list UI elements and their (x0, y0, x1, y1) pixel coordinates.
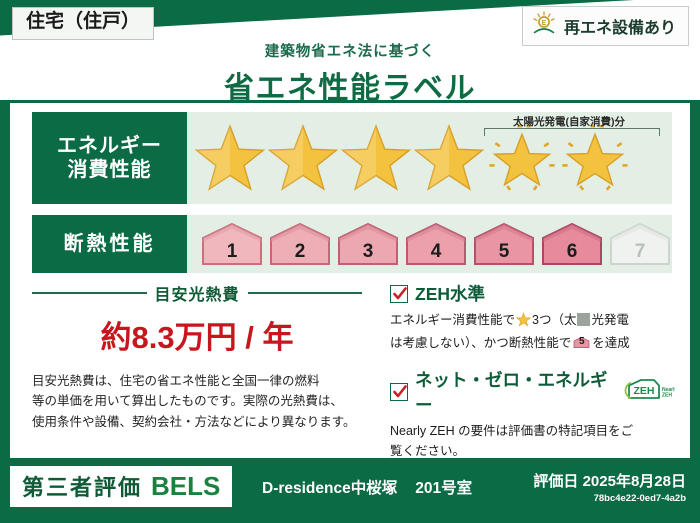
evaluation-id: 78bc4e22-0ed7-4a2b (533, 493, 686, 504)
zeh-section: ZEH水準 エネルギー消費性能で3つ（太光発電 は考慮しない）、かつ断熱性能で5… (390, 281, 675, 461)
insulation-badge-number: 1 (199, 241, 265, 263)
insulation-badge: 6 (539, 221, 605, 267)
insulation-badge-number: 7 (607, 241, 673, 263)
label-title-group: 建築物省エネ法に基づく 省エネ性能ラベル (0, 40, 700, 107)
footer-band: 第三者評価 BELS D-residence中桜塚201号室 評価日 2025年… (0, 462, 700, 523)
solar-sun-icon: E (531, 11, 557, 40)
utility-cost-section: 目安光熱費 約8.3万円 / 年 目安光熱費は、住宅の省エネ性能と全国一律の燃料… (32, 281, 362, 432)
insulation-badges-area: 1 2 3 (187, 215, 673, 273)
insulation-badge: 1 (199, 221, 265, 267)
insulation-badge: 3 (335, 221, 401, 267)
evaluation-date-group: 評価日 2025年8月28日 78bc4e22-0ed7-4a2b (533, 470, 686, 504)
mini-badge-number: 5 (573, 334, 590, 350)
zeh-body-after-star: 3つ（太 (532, 313, 576, 327)
insulation-badge: 4 (403, 221, 469, 267)
cost-note-line-2: 等の単価を用いて算出したものです。実際の光熱費は、 (32, 391, 362, 411)
evaluation-date-value: 2025年8月28日 (583, 473, 686, 490)
title-subtitle: 建築物省エネ法に基づく (0, 40, 700, 61)
zeh-body-line2-post: を達成 (592, 336, 630, 350)
insulation-badge: 5 (471, 221, 537, 267)
mini-insulation-badge: 5 (573, 335, 590, 350)
insulation-badge-number: 5 (471, 241, 537, 263)
cost-note-line-3: 使用条件や設備、契約会社・方法などにより異なります。 (32, 412, 362, 432)
title-main: 省エネ性能ラベル (0, 63, 700, 107)
netzero-body: Nearly ZEH の要件は評価書の特記項目をご 覧ください。 (390, 421, 675, 461)
zeh-body-pre-star: エネルギー消費性能で (390, 313, 515, 327)
netzero-body-line-1: Nearly ZEH の要件は評価書の特記項目をご (390, 421, 675, 441)
svg-text:E: E (542, 20, 547, 27)
zeh-logo-icon: ZEH Nearly ZEH (621, 377, 675, 408)
netzero-heading: ネット・ゼロ・エネルギー ZEH Nearly ZEH (390, 367, 675, 417)
insulation-label: 断熱性能 (64, 232, 156, 256)
zeh-body-after-block: 光発電 (591, 313, 629, 327)
bels-en-label: BELS (151, 471, 220, 502)
energy-performance-label: 住宅（住戸） E 再エネ設備あり 建築物省エネ法に基づく 省エネ性能ラベル (0, 0, 700, 523)
evaluation-date-label: 評価日 (533, 473, 578, 490)
netzero-body-line-2: 覧ください。 (390, 441, 675, 461)
netzero-section: ネット・ゼロ・エネルギー ZEH Nearly ZEH Nearly ZEH の… (390, 367, 675, 461)
house-type-tag: 住宅（住戸） (12, 7, 154, 40)
insulation-badge-number: 3 (335, 241, 401, 263)
cost-rule-right (248, 292, 363, 294)
energy-stars-area: 太陽光発電(自家消費)分 (187, 112, 672, 204)
bels-certification-tag: 第三者評価 BELS (10, 466, 232, 507)
insulation-performance-row: 断熱性能 1 2 (32, 215, 672, 273)
utility-cost-title: 目安光熱費 (155, 281, 240, 305)
mini-star-icon (516, 312, 531, 333)
main-panel: エネルギー 消費性能 太陽光発電(自家消費)分 (10, 103, 690, 458)
zeh-standard-title: ZEH水準 (415, 281, 485, 306)
star-filled (339, 121, 413, 195)
checkbox-checked-icon (390, 383, 408, 401)
building-unit: 201号室 (415, 480, 472, 497)
utility-cost-note: 目安光熱費は、住宅の省エネ性能と全国一律の燃料 等の単価を用いて算出したものです… (32, 371, 362, 432)
star-filled (193, 121, 267, 195)
insulation-badge-inactive: 7 (607, 221, 673, 267)
redaction-block (577, 313, 590, 326)
insulation-badge-number: 2 (267, 241, 333, 263)
energy-label-line2: 消費性能 (68, 158, 152, 182)
cost-note-line-1: 目安光熱費は、住宅の省エネ性能と全国一律の燃料 (32, 371, 362, 391)
building-address: D-residence中桜塚201号室 (262, 476, 472, 498)
zeh-body-line2-pre: は考慮しない）、かつ断熱性能で (390, 336, 571, 350)
svg-text:ZEH: ZEH (634, 385, 655, 397)
energy-label-line1: エネルギー (57, 134, 162, 158)
building-name: D-residence中桜塚 (262, 480, 397, 497)
energy-performance-row: エネルギー 消費性能 太陽光発電(自家消費)分 (32, 112, 672, 204)
checkbox-checked-icon (390, 285, 408, 303)
star-filled (412, 121, 486, 195)
zeh-standard-heading: ZEH水準 (390, 281, 675, 306)
renewable-badge-label: 再エネ設備あり (564, 14, 676, 38)
solar-bracket (484, 128, 660, 136)
solar-note-label: 太陽光発電(自家消費)分 (474, 114, 664, 129)
insulation-badge-number: 4 (403, 241, 469, 263)
utility-cost-heading: 目安光熱費 (32, 281, 362, 305)
svg-text:ZEH: ZEH (662, 392, 672, 398)
insulation-badge: 2 (267, 221, 333, 267)
insulation-performance-label-box: 断熱性能 (32, 215, 187, 273)
star-filled (266, 121, 340, 195)
energy-performance-label-box: エネルギー 消費性能 (32, 112, 187, 204)
cost-rule-left (32, 292, 147, 294)
zeh-standard-body: エネルギー消費性能で3つ（太光発電 は考慮しない）、かつ断熱性能で5を達成 (390, 310, 675, 353)
insulation-badge-number: 6 (539, 241, 605, 263)
netzero-title: ネット・ゼロ・エネルギー (415, 367, 609, 417)
utility-cost-value: 約8.3万円 / 年 (32, 312, 362, 357)
bels-jp-label: 第三者評価 (22, 470, 142, 502)
